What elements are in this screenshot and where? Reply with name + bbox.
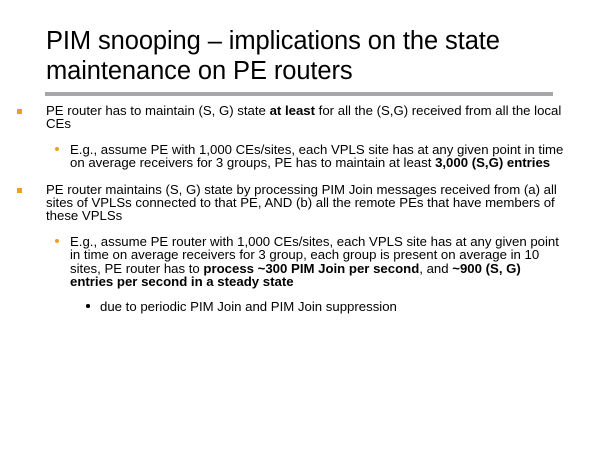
bullet-text-segment: PE router maintains (S, G) state by proc… (46, 182, 557, 224)
title-block: PIM snooping – implications on the state… (46, 26, 556, 86)
bullet-level2-item-2: E.g., assume PE router with 1,000 CEs/si… (0, 235, 600, 289)
bullet-level1-item-1: PE router has to maintain (S, G) state a… (0, 104, 600, 131)
square-bullet-icon (17, 188, 22, 193)
bullet-text: PE router maintains (S, G) state by proc… (46, 182, 557, 224)
dot-bullet-icon (55, 147, 59, 151)
bullet-level3-item-1: due to periodic PIM Join and PIM Join su… (0, 300, 600, 313)
bullet-text: E.g., assume PE router with 1,000 CEs/si… (70, 234, 559, 289)
bullet-text: E.g., assume PE with 1,000 CEs/sites, ea… (70, 142, 563, 170)
bullet-text-segment: , and (419, 261, 452, 276)
bullet-text-segment: PE router has to maintain (S, G) state (46, 103, 270, 118)
bullet-text: due to periodic PIM Join and PIM Join su… (100, 299, 397, 314)
square-bullet-icon (17, 109, 22, 114)
title-divider (45, 92, 553, 96)
dot-bullet-icon (86, 304, 90, 308)
bullet-level1-item-2: PE router maintains (S, G) state by proc… (0, 183, 600, 223)
bullet-text-bold-segment: at least (270, 103, 315, 118)
bullet-text-segment: due to periodic PIM Join and PIM Join su… (100, 299, 397, 314)
bullet-level2-item-1: E.g., assume PE with 1,000 CEs/sites, ea… (0, 143, 600, 170)
body-content: PE router has to maintain (S, G) state a… (0, 104, 600, 314)
slide: PIM snooping – implications on the state… (0, 0, 600, 450)
dot-bullet-icon (55, 239, 59, 243)
bullet-text-bold-segment: 3,000 (S,G) entries (435, 155, 550, 170)
page-title: PIM snooping – implications on the state… (46, 26, 556, 86)
bullet-text: PE router has to maintain (S, G) state a… (46, 103, 561, 131)
